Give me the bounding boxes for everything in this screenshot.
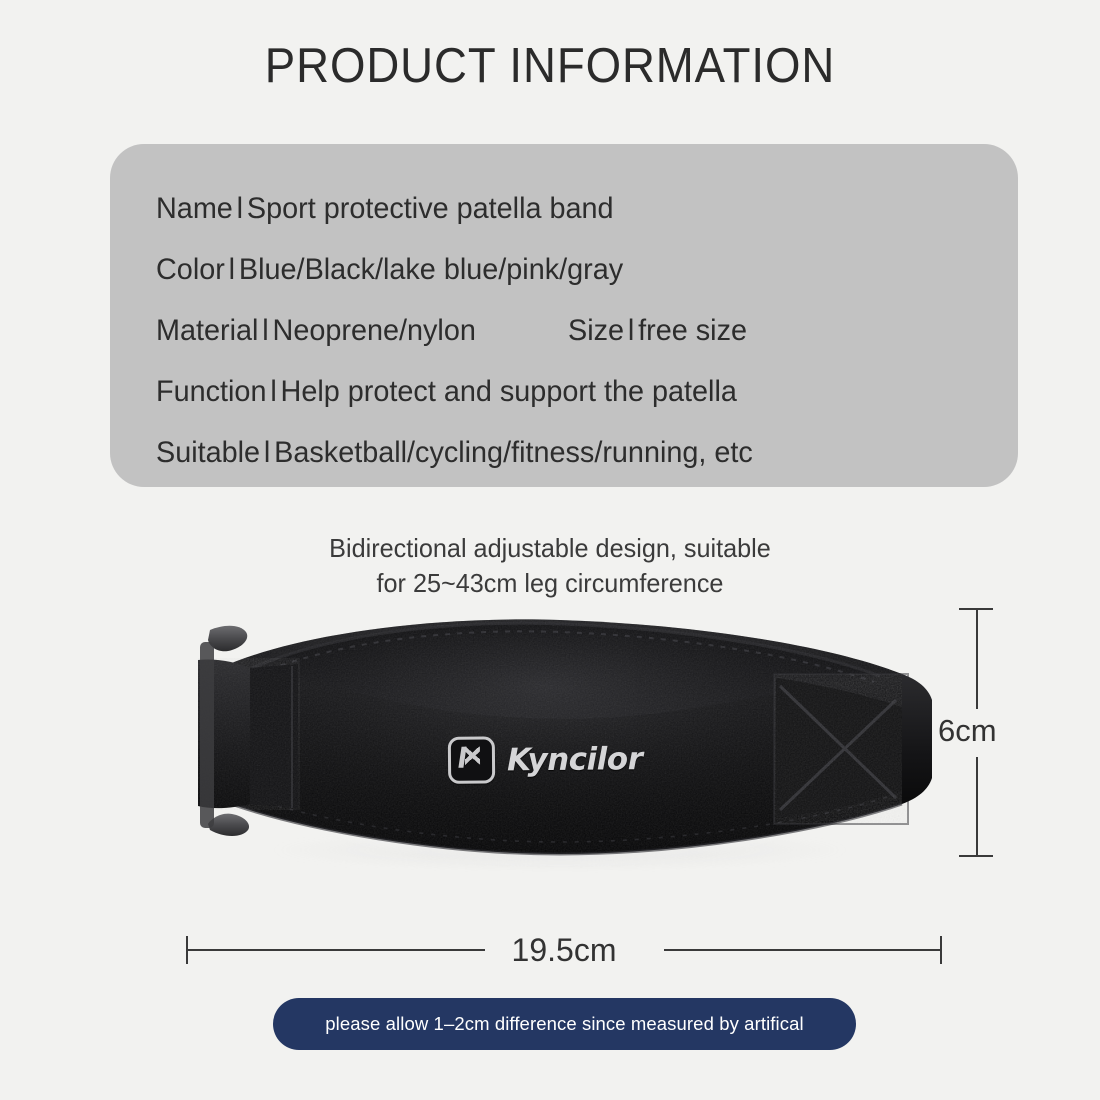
height-dimension-label: 6cm [938, 713, 997, 749]
spec-value-function: Help protect and support the patella [281, 375, 737, 408]
dimension-line-left [188, 949, 485, 951]
spec-label-size: Size [568, 300, 624, 361]
dimension-cap-right [940, 936, 942, 964]
spec-value-name: Sport protective patella band [247, 192, 614, 225]
product-photo: Kyncilor [180, 608, 940, 908]
adjustable-design-caption: Bidirectional adjustable design, suitabl… [0, 531, 1100, 601]
spec-label-material: Material [156, 314, 258, 347]
page-title: PRODUCT INFORMATION [39, 38, 1062, 94]
width-dimension-line: 19.5cm [186, 932, 942, 968]
brand-name: Kyncilor [507, 741, 643, 778]
spec-value-suitable: Basketball/cycling/fitness/running, etc [274, 436, 753, 469]
spec-row-function: FunctionlHelp protect and support the pa… [156, 361, 939, 422]
width-dimension-label: 19.5cm [485, 932, 643, 968]
spec-separator: l [260, 436, 274, 469]
spec-label-name: Name [156, 192, 233, 225]
dimension-line-top [976, 609, 978, 709]
spec-value-color: Blue/Black/lake blue/pink/gray [239, 253, 623, 286]
spec-label-suitable: Suitable [156, 436, 260, 469]
spec-value-size: free size [638, 314, 747, 347]
spec-separator: l [258, 314, 272, 347]
spec-separator: l [624, 314, 638, 347]
spec-label-color: Color [156, 253, 225, 286]
spec-row-name: NamelSport protective patella band [156, 178, 939, 239]
spec-value-material: Neoprene/nylon [273, 314, 476, 347]
brand-logo: Kyncilor [448, 735, 643, 784]
spec-row-color: ColorlBlue/Black/lake blue/pink/gray [156, 239, 939, 300]
product-info-panel: NamelSport protective patella band Color… [110, 144, 1018, 487]
dimension-line-right [664, 949, 940, 951]
caption-line-1: Bidirectional adjustable design, suitabl… [17, 531, 1084, 566]
spec-separator: l [233, 192, 247, 225]
spec-label-function: Function [156, 375, 266, 408]
dimension-cap-bottom [959, 855, 993, 857]
dimension-line-bottom [976, 757, 978, 856]
measurement-notice-text: please allow 1–2cm difference since meas… [325, 1013, 803, 1035]
spec-separator: l [266, 375, 280, 408]
k-monogram-icon [448, 736, 495, 783]
right-strap [902, 674, 932, 804]
measurement-notice-banner: please allow 1–2cm difference since meas… [273, 998, 856, 1050]
spec-separator: l [225, 253, 239, 286]
caption-line-2: for 25~43cm leg circumference [17, 566, 1084, 601]
spec-row-suitable: SuitablelBasketball/cycling/fitness/runn… [156, 422, 939, 483]
right-reinforcement [774, 674, 908, 824]
spec-row-material-size: MateriallNeoprene/nylonSizelfree size [156, 300, 939, 361]
